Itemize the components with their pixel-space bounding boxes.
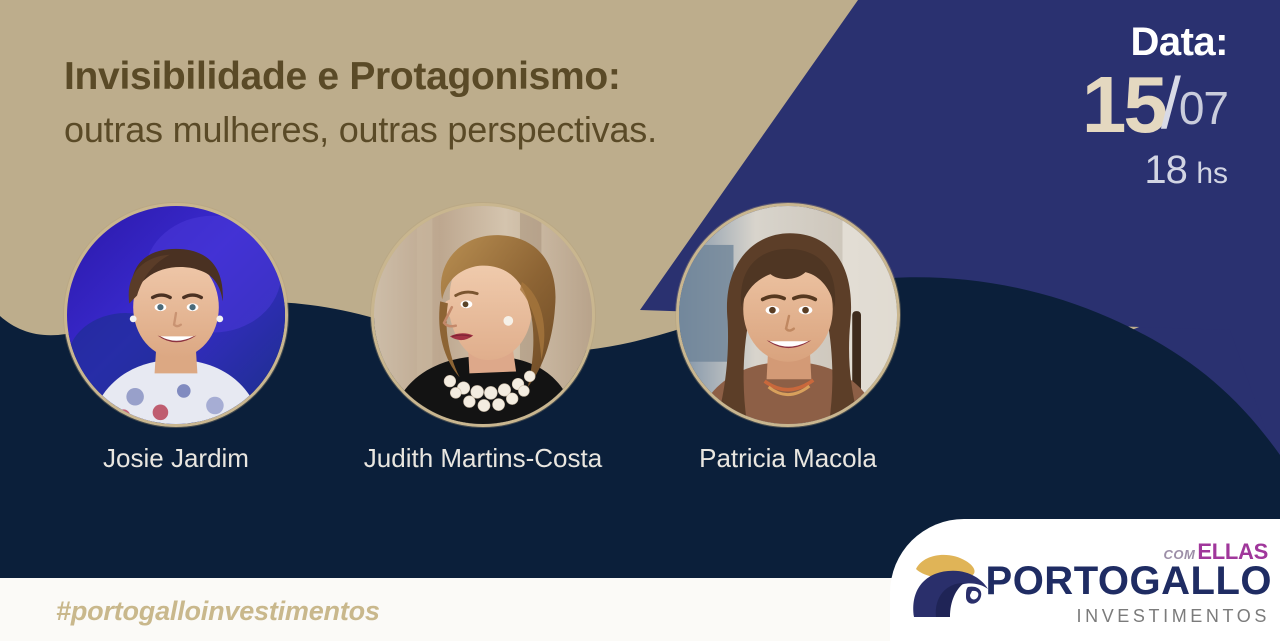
title-block: Invisibilidade e Protagonismo: outras mu… bbox=[64, 56, 904, 150]
portrait-patricia-macola bbox=[679, 206, 897, 424]
speaker-card-1: Josie Jardim bbox=[64, 203, 288, 474]
portrait-judith-martins-costa bbox=[374, 206, 592, 424]
brand-tagline: INVESTIMENTOS bbox=[1077, 607, 1271, 625]
hashtag[interactable]: #portogalloinvestimentos bbox=[56, 596, 380, 627]
date-day: 15 bbox=[1082, 68, 1165, 142]
date-month: 07 bbox=[1179, 75, 1228, 142]
avatar bbox=[676, 203, 900, 427]
speaker-card-2: Judith Martins-Costa bbox=[371, 203, 633, 474]
avatar bbox=[64, 203, 288, 427]
event-time: 18 hs bbox=[988, 150, 1228, 190]
date-value: 15 / 07 bbox=[988, 68, 1228, 142]
time-unit: hs bbox=[1196, 157, 1228, 190]
time-hour: 18 bbox=[1144, 148, 1187, 192]
speaker-name: Judith Martins-Costa bbox=[333, 443, 633, 474]
brand-name: PORTOGALLO bbox=[986, 561, 1272, 601]
portrait-josie-jardim bbox=[67, 206, 285, 424]
date-label: Data: bbox=[988, 22, 1228, 62]
logo-panel[interactable]: COMELLAS PORTOGALLO INVESTIMENTOS bbox=[890, 519, 1280, 641]
page-title-line-1: Invisibilidade e Protagonismo: bbox=[64, 56, 904, 98]
page-title-line-2: outras mulheres, outras perspectivas. bbox=[64, 110, 904, 150]
speaker-name: Josie Jardim bbox=[64, 443, 288, 474]
speaker-card-3: Patricia Macola bbox=[676, 203, 913, 474]
avatar bbox=[371, 203, 595, 427]
event-banner: Invisibilidade e Protagonismo: outras mu… bbox=[0, 0, 1280, 641]
speaker-name: Patricia Macola bbox=[663, 443, 913, 474]
date-separator: / bbox=[1161, 68, 1181, 140]
date-block: Data: 15 / 07 18 hs bbox=[988, 22, 1228, 190]
